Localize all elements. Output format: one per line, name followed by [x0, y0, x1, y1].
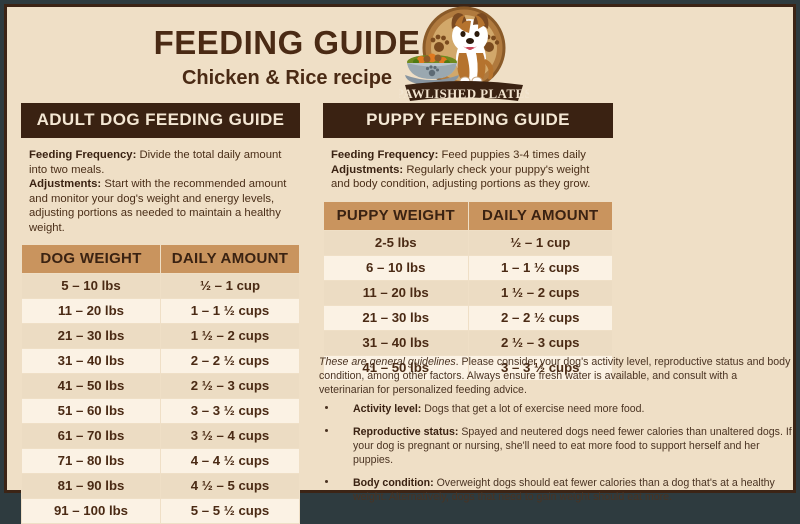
- table-row: 5 – 10 lbs½ – 1 cup: [22, 273, 300, 298]
- cell-weight: 61 – 70 lbs: [22, 423, 161, 448]
- table-row: 31 – 40 lbs2 – 2 ½ cups: [22, 348, 300, 373]
- cell-weight: 81 – 90 lbs: [22, 473, 161, 498]
- cell-amount: 1 ½ – 2 cups: [468, 280, 613, 305]
- puppy-frequency-label: Feeding Frequency:: [331, 149, 438, 161]
- adult-dog-panel: ADULT DOG FEEDING GUIDE Feeding Frequenc…: [21, 103, 300, 524]
- cell-amount: 5 – 5 ½ cups: [161, 498, 300, 523]
- logo-artwork: PAWLISHED PLATES: [399, 3, 529, 107]
- adult-table-body: 5 – 10 lbs½ – 1 cup11 – 20 lbs1 – 1 ½ cu…: [22, 273, 300, 523]
- cell-amount: 4 – 4 ½ cups: [161, 448, 300, 473]
- cell-weight: 91 – 100 lbs: [22, 498, 161, 523]
- column-header-weight: DOG WEIGHT: [22, 244, 161, 273]
- adult-panel-notes: Feeding Frequency: Divide the total dail…: [21, 144, 300, 238]
- cell-amount: ½ – 1 cup: [468, 230, 613, 255]
- puppy-frequency-text: Feed puppies 3-4 times daily: [438, 149, 586, 161]
- table-row: 21 – 30 lbs1 ½ – 2 cups: [22, 323, 300, 348]
- column-header-amount: DAILY AMOUNT: [468, 201, 613, 230]
- disclaimer-italic: These are general guidelines: [319, 356, 456, 368]
- table-row: 6 – 10 lbs1 – 1 ½ cups: [324, 255, 613, 280]
- cell-amount: 2 – 2 ½ cups: [161, 348, 300, 373]
- cell-weight: 41 – 50 lbs: [22, 373, 161, 398]
- table-row: 11 – 20 lbs1 – 1 ½ cups: [22, 298, 300, 323]
- table-row: 51 – 60 lbs3 – 3 ½ cups: [22, 398, 300, 423]
- cell-weight: 21 – 30 lbs: [324, 305, 469, 330]
- column-header-amount: DAILY AMOUNT: [161, 244, 300, 273]
- brand-logo: PAWLISHED PLATES: [399, 3, 529, 107]
- cell-amount: ½ – 1 cup: [161, 273, 300, 298]
- cell-amount: 3 – 3 ½ cups: [161, 398, 300, 423]
- cell-amount: 4 ½ – 5 cups: [161, 473, 300, 498]
- cell-amount: 1 – 1 ½ cups: [468, 255, 613, 280]
- cell-weight: 31 – 40 lbs: [22, 348, 161, 373]
- cell-weight: 71 – 80 lbs: [22, 448, 161, 473]
- cell-weight: 31 – 40 lbs: [324, 330, 469, 355]
- table-header-row: DOG WEIGHT DAILY AMOUNT: [22, 244, 300, 273]
- cell-amount: 2 ½ – 3 cups: [468, 330, 613, 355]
- footer-disclaimer: These are general guidelines. Please con…: [319, 355, 793, 513]
- bullet-dot-icon: [325, 429, 328, 432]
- puppy-feeding-table: PUPPY WEIGHT DAILY AMOUNT 2-5 lbs½ – 1 c…: [323, 201, 613, 381]
- food-bowl-icon: [405, 54, 459, 86]
- table-header-row: PUPPY WEIGHT DAILY AMOUNT: [324, 201, 613, 230]
- table-row: 71 – 80 lbs4 – 4 ½ cups: [22, 448, 300, 473]
- cell-weight: 21 – 30 lbs: [22, 323, 161, 348]
- column-header-weight: PUPPY WEIGHT: [324, 201, 469, 230]
- table-row: 61 – 70 lbs3 ½ – 4 cups: [22, 423, 300, 448]
- cell-weight: 51 – 60 lbs: [22, 398, 161, 423]
- table-row: 31 – 40 lbs2 ½ – 3 cups: [324, 330, 613, 355]
- cell-weight: 11 – 20 lbs: [324, 280, 469, 305]
- cell-amount: 3 ½ – 4 cups: [161, 423, 300, 448]
- adult-feeding-table: DOG WEIGHT DAILY AMOUNT 5 – 10 lbs½ – 1 …: [21, 244, 300, 524]
- table-row: 2-5 lbs½ – 1 cup: [324, 230, 613, 255]
- cell-weight: 6 – 10 lbs: [324, 255, 469, 280]
- brand-name: PAWLISHED PLATES: [399, 86, 529, 101]
- footer-bullet-list: Activity level: Dogs that get a lot of e…: [319, 402, 793, 504]
- cell-weight: 5 – 10 lbs: [22, 273, 161, 298]
- cell-amount: 2 – 2 ½ cups: [468, 305, 613, 330]
- table-row: 81 – 90 lbs4 ½ – 5 cups: [22, 473, 300, 498]
- bullet-dot-icon: [325, 406, 328, 409]
- bullet-label: Body condition:: [353, 477, 434, 489]
- adult-frequency-label: Feeding Frequency:: [29, 149, 136, 161]
- cell-amount: 1 ½ – 2 cups: [161, 323, 300, 348]
- poster-frame: FEEDING GUIDE Chicken & Rice recipe: [4, 4, 796, 493]
- bullet-dot-icon: [325, 480, 328, 483]
- cell-weight: 11 – 20 lbs: [22, 298, 161, 323]
- list-item: Body condition: Overweight dogs should e…: [319, 476, 793, 504]
- cell-amount: 1 – 1 ½ cups: [161, 298, 300, 323]
- cell-weight: 2-5 lbs: [324, 230, 469, 255]
- table-row: 11 – 20 lbs1 ½ – 2 cups: [324, 280, 613, 305]
- list-item: Activity level: Dogs that get a lot of e…: [319, 402, 793, 416]
- adult-panel-heading: ADULT DOG FEEDING GUIDE: [21, 103, 300, 138]
- table-row: 91 – 100 lbs5 – 5 ½ cups: [22, 498, 300, 523]
- disclaimer-lead: These are general guidelines. Please con…: [319, 355, 793, 397]
- adult-adjustments-label: Adjustments:: [29, 178, 101, 190]
- puppy-panel: PUPPY FEEDING GUIDE Feeding Frequency: F…: [323, 103, 613, 381]
- bullet-text: Dogs that get a lot of exercise need mor…: [421, 403, 644, 415]
- table-row: 21 – 30 lbs2 – 2 ½ cups: [324, 305, 613, 330]
- list-item: Reproductive status: Spayed and neutered…: [319, 425, 793, 467]
- bullet-label: Reproductive status:: [353, 426, 458, 438]
- table-row: 41 – 50 lbs2 ½ – 3 cups: [22, 373, 300, 398]
- puppy-panel-notes: Feeding Frequency: Feed puppies 3-4 time…: [323, 144, 613, 194]
- bullet-label: Activity level:: [353, 403, 421, 415]
- puppy-adjustments-label: Adjustments:: [331, 164, 403, 176]
- puppy-panel-heading: PUPPY FEEDING GUIDE: [323, 103, 613, 138]
- cell-amount: 2 ½ – 3 cups: [161, 373, 300, 398]
